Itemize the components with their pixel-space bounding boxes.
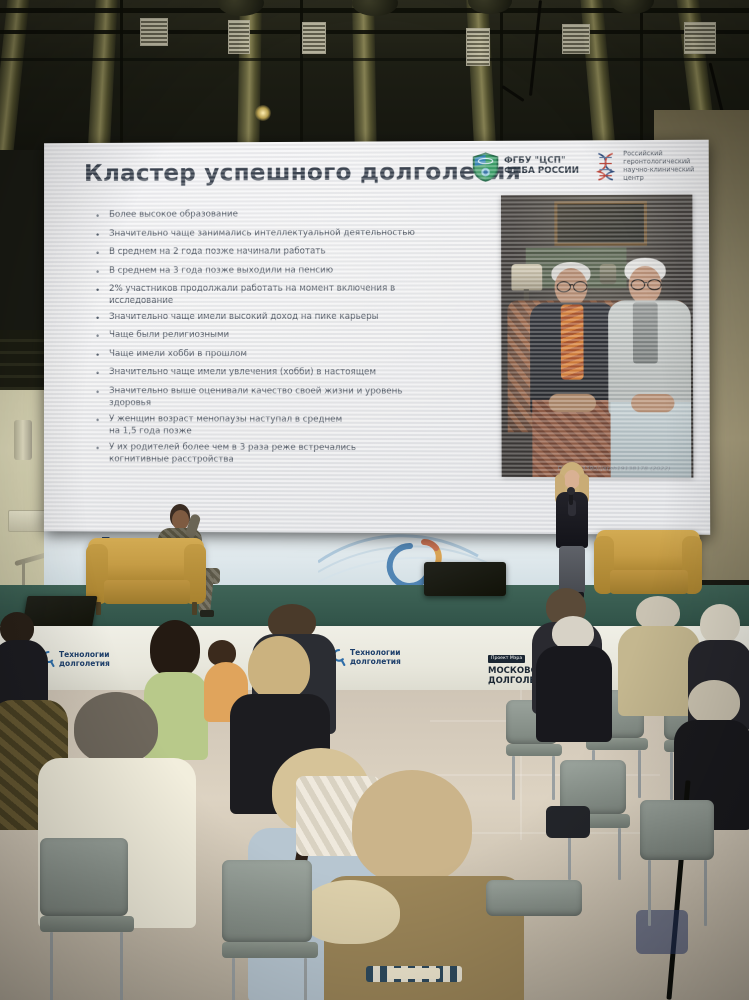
photograph-root: Технологии долголетия ия Кластер успешно… (0, 0, 749, 1000)
list-item: •Значительно выше оценивали качество сво… (96, 385, 481, 410)
barrier-left-text: Технологии долголетия (59, 650, 110, 669)
bullet-marker: • (96, 348, 109, 363)
list-item: •Значительно чаще имели высокий доход на… (96, 311, 481, 326)
bullet-marker: • (96, 311, 109, 326)
list-item: •У женщин возраст менопаузы наступал в с… (96, 413, 481, 439)
shield-icon (472, 152, 499, 182)
list-item: •2% участников продолжали работать на мо… (96, 282, 481, 307)
bullet-marker: • (96, 246, 109, 261)
bullet-text: 2% участников продолжали работать на мом… (109, 283, 395, 308)
bullet-marker: • (96, 413, 109, 428)
bullet-text: Значительно чаще имели высокий доход на … (109, 311, 379, 323)
bullet-marker: • (96, 264, 109, 279)
floor-bag (636, 910, 688, 954)
ceiling-spotlight (255, 105, 271, 121)
stage-speaker-cabinet (424, 562, 506, 596)
bullet-text: Значительно чаще занимались интеллектуал… (109, 226, 415, 239)
barrier-center-text: Технологии долголетия (350, 648, 401, 667)
fgbu-logo-text: ФГБУ "ЦСП" ФМБА РОССИИ (504, 157, 579, 177)
list-item: •В среднем на 2 года позже начинали рабо… (96, 245, 481, 261)
armchair-leg (96, 602, 101, 615)
dna-helix-icon (593, 151, 618, 182)
ceiling (0, 0, 749, 150)
bullet-marker: • (96, 329, 109, 344)
bullet-text: Значительно выше оценивали качество свое… (109, 385, 403, 410)
bullet-text: У женщин возраст менопаузы наступал в ср… (109, 413, 342, 438)
vent-grille (140, 18, 168, 46)
slide-bullet-list: •Более высокое образование •Значительно … (96, 208, 481, 471)
list-item: •Чаще имели хобби в прошлом (96, 348, 481, 363)
bullet-marker: • (96, 441, 109, 456)
lanyard (388, 968, 440, 979)
bullet-marker: • (96, 366, 109, 381)
lamp-shade (511, 264, 542, 290)
wall-picture-frame (554, 201, 647, 246)
list-item: •Чаще были религиозными (96, 329, 481, 344)
armchair-right (596, 530, 700, 576)
vent-grille (562, 24, 590, 54)
barrier-brand-left: Технологии долголетия (42, 650, 110, 669)
vent-grille (228, 20, 250, 54)
vase (600, 264, 617, 284)
gerontology-center-logo: Российский геронтологический научно-клин… (593, 150, 694, 182)
list-item: •Более высокое образование (96, 208, 481, 224)
list-item: •У их родителей более чем в 3 раза реже … (96, 441, 481, 467)
vent-grille (466, 28, 490, 66)
gerontology-logo-text: Российский геронтологический научно-клин… (623, 150, 694, 182)
bullet-text: В среднем на 3 года позже выходили на пе… (109, 264, 333, 277)
vent-grille (684, 22, 716, 54)
list-item: •В среднем на 3 года позже выходили на п… (96, 264, 481, 280)
mayor-project-chip: Проект Мэра (488, 655, 525, 663)
bullet-marker: • (96, 227, 109, 242)
slide-logos: ФГБУ "ЦСП" ФМБА РОССИИ Российский геронт… (472, 150, 694, 183)
floor-bag (546, 806, 590, 838)
bullet-text: Более высокое образование (109, 208, 238, 221)
bullet-text: Значительно чаще имели увлечения (хобби)… (109, 366, 376, 379)
bullet-text: У их родителей более чем в 3 раза реже в… (109, 441, 356, 466)
vent-grille (302, 22, 326, 54)
wall-pipe (14, 420, 32, 460)
armchair-left (88, 538, 204, 586)
list-item: •Значительно чаще занимались интеллектуа… (96, 226, 481, 242)
list-item: •Значительно чаще имели увлечения (хобби… (96, 366, 481, 381)
slide-title: Кластер успешного долголетия (84, 159, 521, 187)
bullet-marker: • (96, 283, 109, 298)
bullet-marker: • (96, 385, 109, 400)
fgbu-csp-fmba-logo: ФГБУ "ЦСП" ФМБА РОССИИ (472, 151, 579, 182)
barrier-brand-center: Технологии долголетия (332, 648, 401, 667)
bullet-text: В среднем на 2 года позже начинали работ… (109, 245, 326, 258)
armchair-leg (192, 602, 197, 615)
bullet-text: Чаще имели хобби в прошлом (109, 348, 247, 360)
bullet-text: Чаще были религиозными (109, 329, 229, 341)
elderly-couple-photo: Doi: 10.3390/ijerph19138178 (2022) (501, 195, 693, 478)
bullet-marker: • (96, 209, 109, 224)
projection-screen: Кластер успешного долголетия ФГБУ "ЦСП" … (44, 140, 710, 535)
